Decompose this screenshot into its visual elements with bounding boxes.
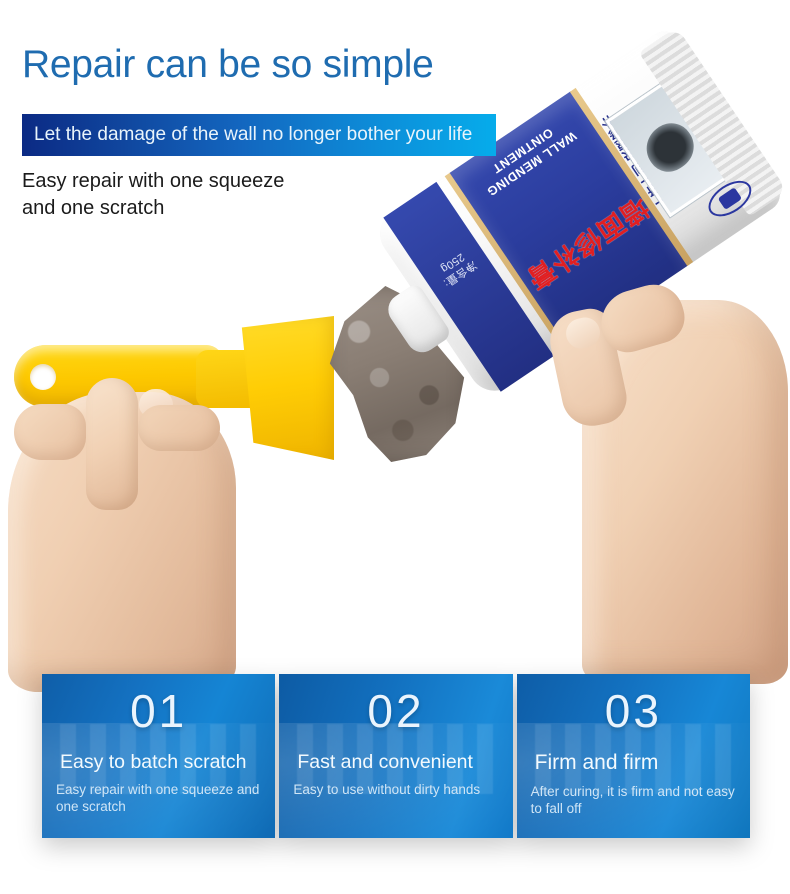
feature-title: Easy to batch scratch [42, 734, 275, 774]
feature-description: Easy repair with one squeeze and one scr… [42, 774, 275, 816]
left-hand-finger [14, 404, 86, 460]
feature-title: Firm and firm [517, 734, 750, 776]
left-hand-thumb [86, 378, 138, 510]
product-photo-stage: 净含量: 250g WALL MENDING OINTMENT 墙面修补膏 一挤… [0, 0, 790, 700]
feature-number: 01 [42, 674, 275, 734]
scraper-hang-hole [30, 364, 56, 390]
feature-number: 03 [517, 674, 750, 734]
feature-description: After curing, it is firm and not easy to… [517, 776, 750, 818]
scraper-blade [238, 316, 334, 460]
feature-title: Fast and convenient [279, 734, 512, 774]
feature-description: Easy to use without dirty hands [279, 774, 512, 798]
page-headline: Repair can be so simple [22, 44, 433, 86]
sub-headline-text: Let the damage of the wall no longer bot… [34, 124, 472, 146]
tagline-text: Easy repair with one squeezeand one scra… [22, 168, 284, 222]
sub-headline-banner: Let the damage of the wall no longer bot… [22, 114, 496, 156]
product-advertisement-page: 净含量: 250g WALL MENDING OINTMENT 墙面修补膏 一挤… [0, 0, 790, 894]
feature-card-02: 02 Fast and convenient Easy to use witho… [279, 674, 512, 838]
left-hand-index-finger [138, 405, 220, 451]
feature-card-03: 03 Firm and firm After curing, it is fir… [517, 674, 750, 838]
feature-card-01: 01 Easy to batch scratch Easy repair wit… [42, 674, 275, 838]
feature-number: 02 [279, 674, 512, 734]
feature-panels: 01 Easy to batch scratch Easy repair wit… [42, 674, 750, 838]
